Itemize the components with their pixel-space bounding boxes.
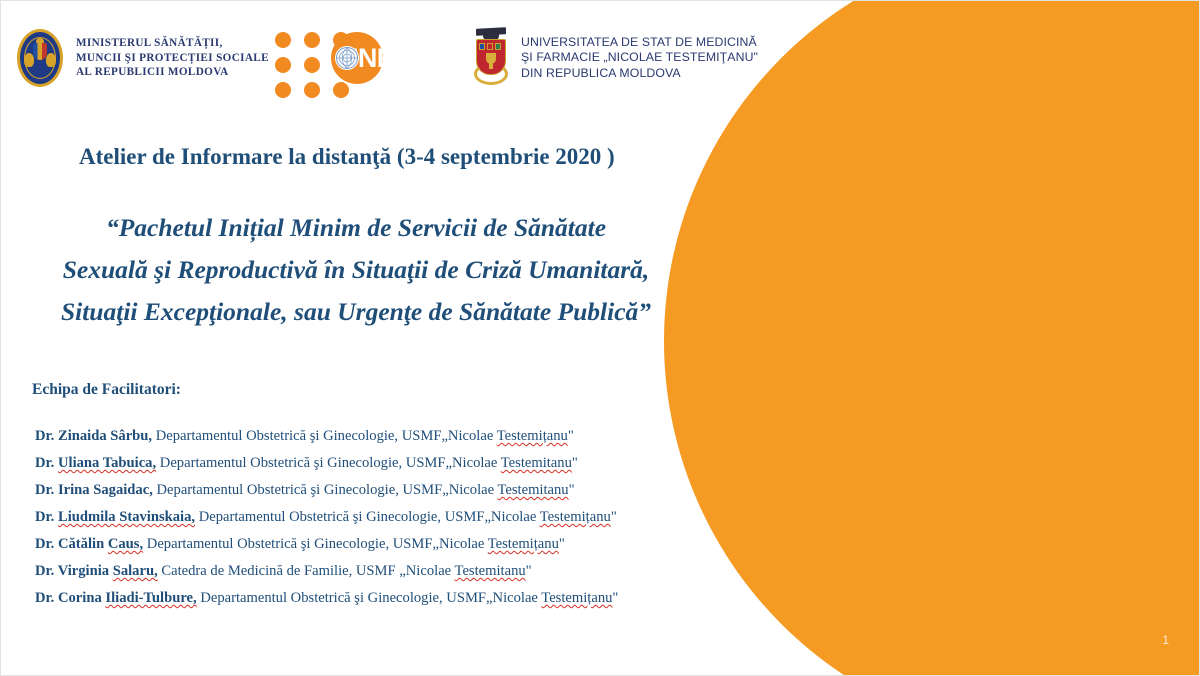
facilitator-row: Dr. Corina Iliadi-Tulbure, Departamentul…: [35, 585, 735, 612]
facilitator-affiliation: Departamentul Obstetrică şi Ginecologie,…: [153, 482, 575, 498]
spellcheck-underlined-text: Testemițanu: [488, 536, 559, 552]
ministry-logo-line-1: MINISTERUL SĂNĂTĂȚII,: [76, 36, 269, 51]
facilitator-affiliation: Departamentul Obstetrică şi Ginecologie,…: [197, 590, 619, 606]
facilitator-row: Dr. Cătălin Caus, Departamentul Obstetri…: [35, 531, 735, 558]
university-logo-line-1: UNIVERSITATEA DE STAT DE MEDICINĂ: [521, 35, 758, 51]
university-logo-block: UNIVERSITATEA DE STAT DE MEDICINĂ ŞI FAR…: [471, 27, 758, 89]
spellcheck-underlined-text: Caus,: [108, 536, 143, 552]
event-title: Atelier de Informare la distanţă (3-4 se…: [79, 144, 615, 170]
presentation-title-line-3: Situaţii Excepţionale, sau Urgenţe de Să…: [41, 291, 671, 333]
presentation-title-line-1: “Pachetul Inițial Minim de Servicii de S…: [41, 207, 671, 249]
facilitator-row: Dr. Liudmila Stavinskaia, Departamentul …: [35, 504, 735, 531]
facilitator-affiliation: Departamentul Obstetrică şi Ginecologie,…: [156, 455, 578, 471]
spellcheck-underlined-text: Testemitanu: [455, 563, 526, 579]
facilitator-affiliation: Departamentul Obstetrică şi Ginecologie,…: [152, 428, 574, 444]
logo-bar: MINISTERUL SĂNĂTĂȚII, MUNCII ŞI PROTECȚI…: [1, 1, 1200, 113]
unfpa-wordmark-rest: NFPA: [358, 43, 427, 73]
unfpa-logo-icon: UNFPA: [275, 29, 427, 87]
facilitator-name: Dr. Uliana Tabuica,: [35, 455, 156, 471]
facilitator-row: Dr. Uliana Tabuica, Departamentul Obstet…: [35, 450, 735, 477]
facilitator-name: Dr. Cătălin Caus,: [35, 536, 143, 552]
team-heading: Echipa de Facilitatori:: [32, 381, 181, 399]
spellcheck-underlined-text: Iliadi-Tulbure,: [105, 590, 196, 606]
facilitator-name: Dr. Corina Iliadi-Tulbure,: [35, 590, 197, 606]
un-globe-icon: [335, 46, 359, 70]
university-logo-line-2: ŞI FARMACIE „NICOLAE TESTEMIŢANU": [521, 50, 758, 66]
spellcheck-underlined-text: Testemițanu: [541, 590, 612, 606]
facilitator-affiliation: Departamentul Obstetrică şi Ginecologie,…: [195, 509, 617, 525]
presentation-title-line-2: Sexuală şi Reproductivă în Situaţii de C…: [41, 249, 671, 291]
university-logo-line-3: DIN REPUBLICA MOLDOVA: [521, 66, 758, 82]
facilitator-affiliation: Departamentul Obstetrică şi Ginecologie,…: [143, 536, 565, 552]
usmf-crest-icon: [471, 27, 511, 89]
facilitator-affiliation: Catedra de Medicină de Familie, USMF „Ni…: [158, 563, 532, 579]
facilitator-name: Dr. Zinaida Sârbu,: [35, 428, 152, 444]
facilitator-row: Dr. Virginia Salaru, Catedra de Medicină…: [35, 558, 735, 585]
page-number: 1: [1162, 633, 1169, 647]
facilitator-name: Dr. Virginia Salaru,: [35, 563, 158, 579]
facilitators-list: Dr. Zinaida Sârbu, Departamentul Obstetr…: [35, 423, 735, 612]
facilitator-row: Dr. Zinaida Sârbu, Departamentul Obstetr…: [35, 423, 735, 450]
ministry-logo-text: MINISTERUL SĂNĂTĂȚII, MUNCII ŞI PROTECȚI…: [76, 36, 269, 80]
unfpa-logo-block: UNFPA: [275, 29, 427, 87]
spellcheck-underlined-text: Testemițanu: [540, 509, 611, 525]
ministry-logo-line-3: AL REPUBLICII MOLDOVA: [76, 65, 269, 80]
university-logo-text: UNIVERSITATEA DE STAT DE MEDICINĂ ŞI FAR…: [521, 35, 758, 82]
facilitator-name: Dr. Liudmila Stavinskaia,: [35, 509, 195, 525]
moldova-coat-of-arms-icon: [15, 27, 65, 89]
spellcheck-underlined-text: Testemițanu: [497, 428, 568, 444]
spellcheck-underlined-text: Liudmila Stavinskaia,: [58, 509, 195, 525]
spellcheck-underlined-text: Testemitanu: [497, 482, 568, 498]
ministry-logo-block: MINISTERUL SĂNĂTĂȚII, MUNCII ŞI PROTECȚI…: [15, 27, 269, 89]
facilitator-name: Dr. Irina Sagaidac,: [35, 482, 153, 498]
ministry-logo-line-2: MUNCII ŞI PROTECȚIEI SOCIALE: [76, 51, 269, 66]
spellcheck-underlined-text: Uliana Tabuica,: [58, 455, 156, 471]
presentation-slide: MINISTERUL SĂNĂTĂȚII, MUNCII ŞI PROTECȚI…: [0, 0, 1200, 676]
spellcheck-underlined-text: Salaru,: [113, 563, 158, 579]
spellcheck-underlined-text: Testemitanu: [501, 455, 572, 471]
presentation-title: “Pachetul Inițial Minim de Servicii de S…: [41, 207, 671, 333]
facilitator-row: Dr. Irina Sagaidac, Departamentul Obstet…: [35, 477, 735, 504]
